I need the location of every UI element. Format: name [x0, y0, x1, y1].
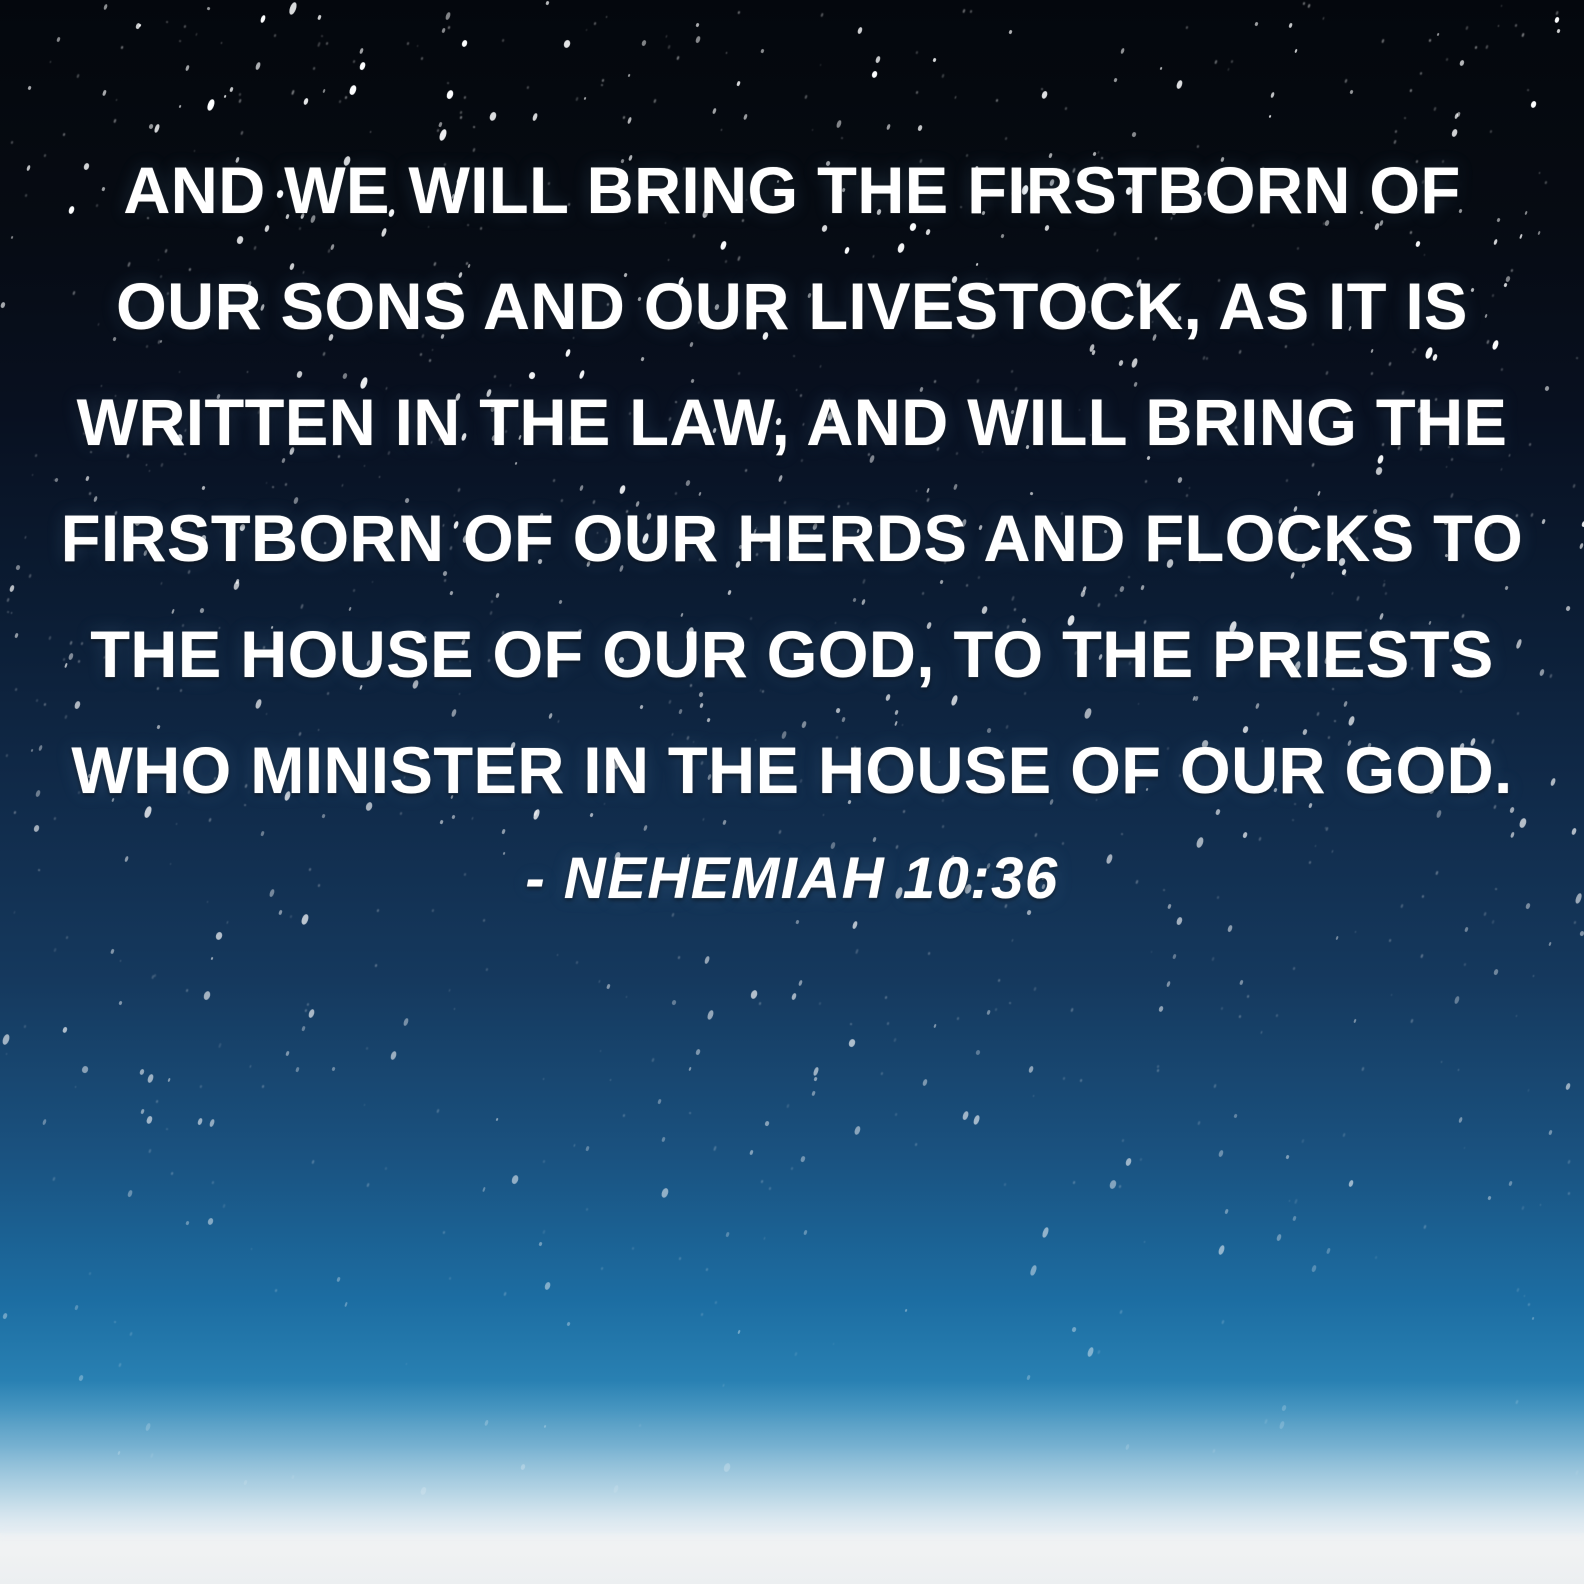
verse-attribution: - NEHEMIAH 10:36	[0, 845, 1584, 912]
verse-line: WHO MINISTER IN THE HOUSE OF OUR GOD.	[12, 712, 1572, 828]
horizon-haze	[0, 1380, 1584, 1535]
verse-text-block: AND WE WILL BRING THE FIRSTBORN OF OUR S…	[0, 132, 1584, 828]
verse-line: AND WE WILL BRING THE FIRSTBORN OF	[12, 132, 1572, 248]
verse-line: OUR SONS AND OUR LIVESTOCK, AS IT IS	[12, 248, 1572, 364]
verse-line: WRITTEN IN THE LAW, AND WILL BRING THE	[12, 364, 1572, 480]
verse-line: FIRSTBORN OF OUR HERDS AND FLOCKS TO	[12, 480, 1572, 596]
verse-line: THE HOUSE OF OUR GOD, TO THE PRIESTS	[12, 596, 1572, 712]
verse-image-canvas: AND WE WILL BRING THE FIRSTBORN OF OUR S…	[0, 0, 1584, 1584]
snow-ground	[0, 1533, 1584, 1584]
attribution-label: - NEHEMIAH 10:36	[525, 845, 1058, 912]
